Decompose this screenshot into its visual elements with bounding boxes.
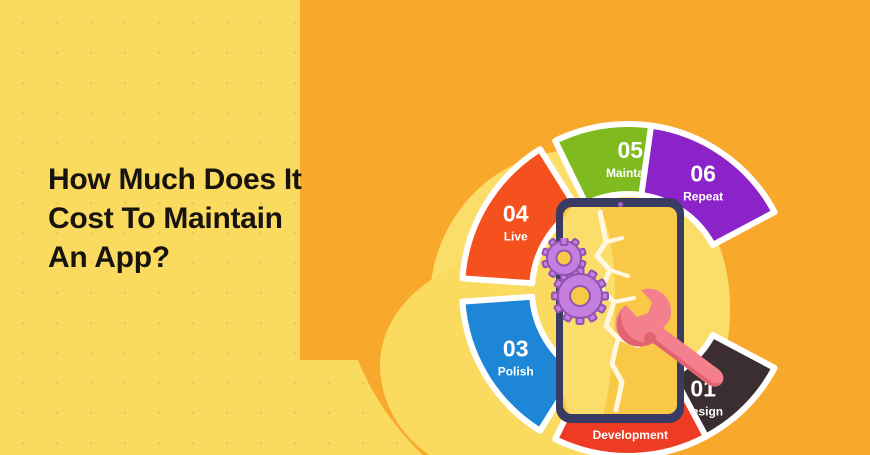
wheel-segment-number: 06 bbox=[690, 161, 716, 187]
wheel-segment-number: 03 bbox=[503, 335, 529, 361]
wrench-icon bbox=[590, 283, 740, 388]
infographic-banner: How Much Does It Cost To Maintain An App… bbox=[0, 0, 870, 455]
wheel-segment-label: Development bbox=[593, 428, 668, 442]
wheel-segment-number: 05 bbox=[617, 137, 643, 163]
wheel-segment-number: 04 bbox=[503, 201, 529, 227]
wheel-segment-label: Live bbox=[504, 230, 528, 244]
wheel-segment-label: Polish bbox=[498, 364, 534, 378]
wheel-segment-label: Repeat bbox=[683, 190, 723, 204]
